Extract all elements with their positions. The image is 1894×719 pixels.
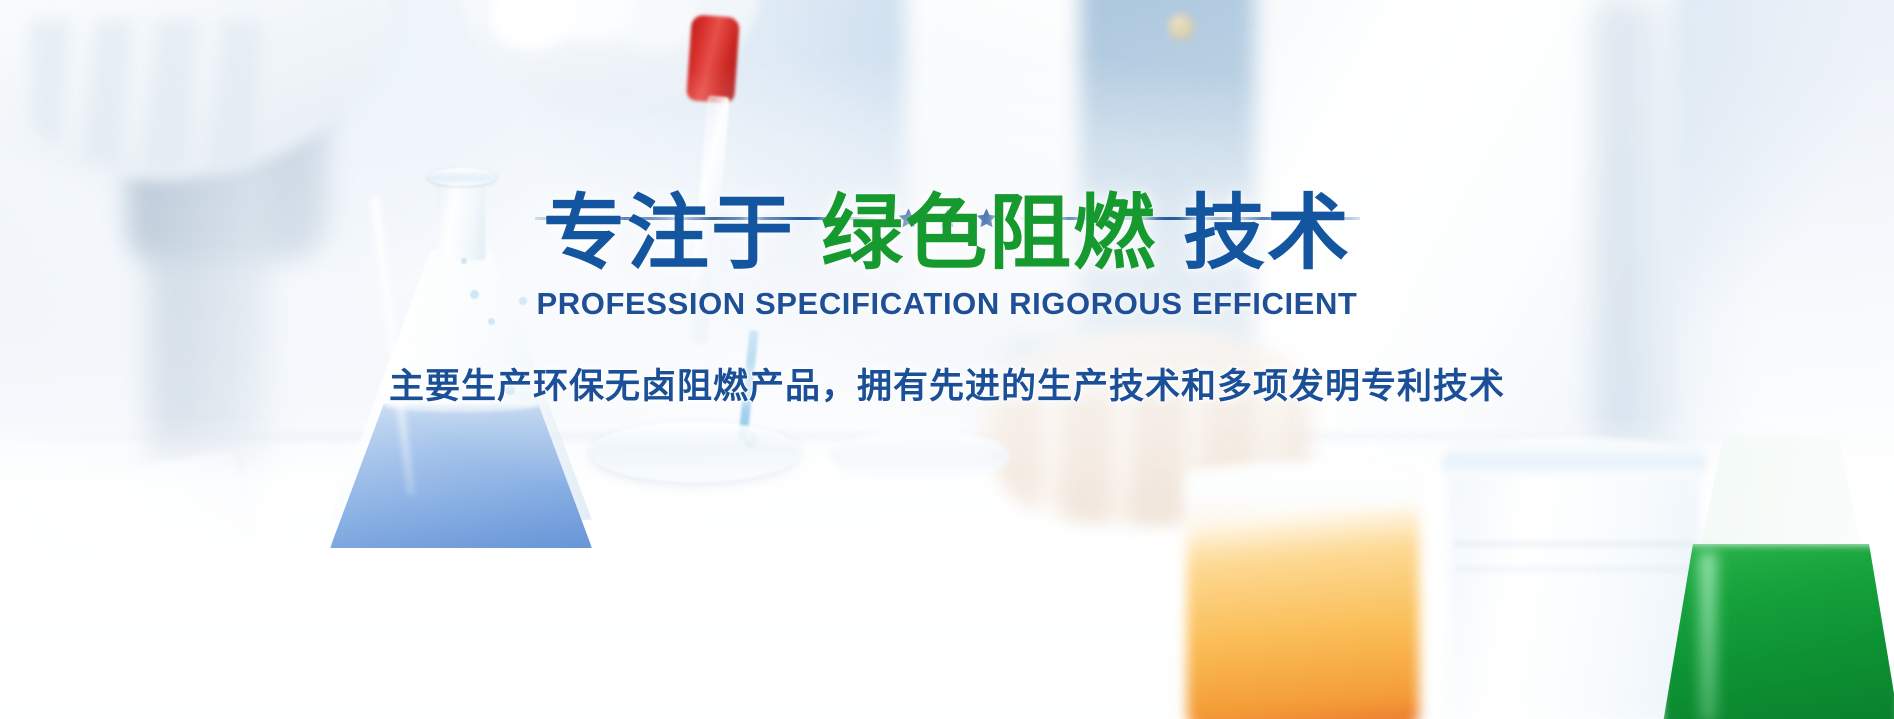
clear-beaker-rim [1443, 438, 1706, 478]
headline-part-3: 技术 [1183, 188, 1351, 279]
erlenmeyer-flask-lip [427, 168, 497, 186]
green-flask-liquid [1662, 544, 1894, 719]
page-subtitle: PROFESSION SPECIFICATION RIGOROUS EFFICI… [0, 286, 1894, 322]
hero-banner: 专注于绿色阻燃技术 PROFESSION SPECIFICATION RIGOR… [0, 0, 1894, 719]
gloved-fingers-left [30, 20, 360, 170]
page-tagline: 主要生产环保无卤阻燃产品，拥有先进的生产技术和多项发明专利技术 [0, 358, 1894, 409]
pipette-bulb-icon [686, 14, 740, 103]
petri-dish-secondary [830, 430, 1010, 482]
orange-beaker-rim [1187, 462, 1419, 504]
orange-beaker [1187, 470, 1419, 719]
page-title: 专注于绿色阻燃技术 [0, 193, 1894, 275]
petri-dish [590, 422, 800, 482]
headline-part-1: 专注于 [543, 188, 795, 279]
headline-part-2: 绿色阻燃 [821, 188, 1157, 279]
clear-beaker-graduations [1455, 530, 1693, 600]
shirt-button [1168, 14, 1194, 40]
gloved-knuckles-center [490, 0, 720, 80]
green-flask-highlight [1700, 552, 1716, 719]
